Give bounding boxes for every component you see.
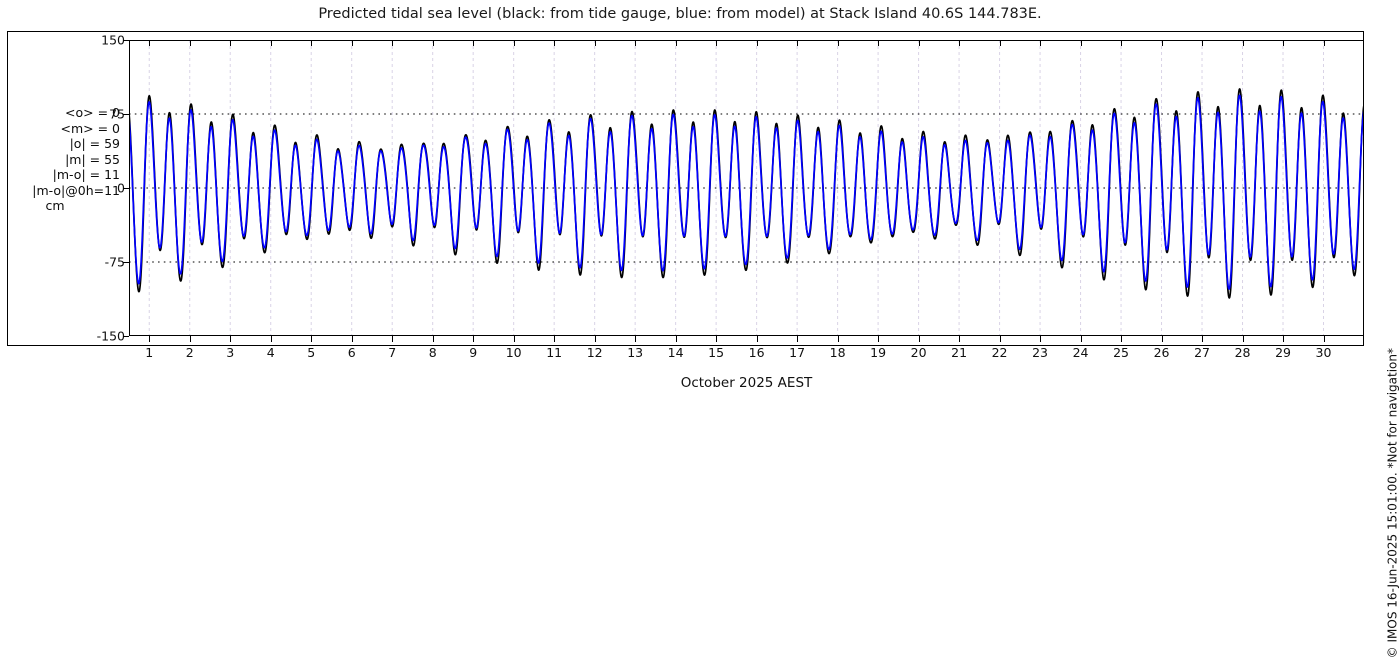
y-tick-mark-2 — [123, 188, 129, 189]
x-tick-mark-1 — [190, 336, 191, 342]
x-tick-mark-23 — [1081, 336, 1082, 342]
x-tick-mark-top-14 — [716, 40, 717, 46]
x-tick-label-17: 17 — [789, 345, 805, 360]
x-tick-mark-top-28 — [1283, 40, 1284, 46]
x-tick-mark-top-10 — [554, 40, 555, 46]
x-tick-mark-19 — [919, 336, 920, 342]
x-tick-mark-28 — [1283, 336, 1284, 342]
x-tick-mark-5 — [352, 336, 353, 342]
x-tick-label-4: 4 — [267, 345, 275, 360]
stat-absmean-difference: |m-o| = 11 — [0, 167, 122, 183]
x-tick-mark-10 — [554, 336, 555, 342]
x-tick-mark-6 — [392, 336, 393, 342]
x-tick-mark-3 — [271, 336, 272, 342]
x-tick-mark-12 — [635, 336, 636, 342]
x-tick-mark-top-25 — [1162, 40, 1163, 46]
x-tick-mark-26 — [1202, 336, 1203, 342]
x-tick-label-22: 22 — [992, 345, 1008, 360]
x-tick-mark-27 — [1243, 336, 1244, 342]
x-tick-mark-top-19 — [919, 40, 920, 46]
y-tick-mark-3 — [123, 262, 129, 263]
x-tick-label-3: 3 — [226, 345, 234, 360]
x-tick-mark-top-20 — [959, 40, 960, 46]
x-tick-mark-top-21 — [1000, 40, 1001, 46]
x-tick-mark-top-17 — [838, 40, 839, 46]
x-tick-label-9: 9 — [469, 345, 477, 360]
stat-unit: cm — [0, 198, 122, 214]
x-tick-mark-top-5 — [352, 40, 353, 46]
x-tick-mark-top-13 — [676, 40, 677, 46]
x-tick-mark-16 — [797, 336, 798, 342]
x-tick-mark-13 — [676, 336, 677, 342]
x-tick-label-30: 30 — [1316, 345, 1332, 360]
x-tick-mark-4 — [311, 336, 312, 342]
x-tick-label-20: 20 — [911, 345, 927, 360]
x-tick-label-2: 2 — [186, 345, 194, 360]
x-tick-mark-24 — [1121, 336, 1122, 342]
y-tick-label-0: 150 — [101, 33, 125, 48]
x-tick-label-13: 13 — [627, 345, 643, 360]
x-tick-mark-top-7 — [433, 40, 434, 46]
y-tick-mark-1 — [123, 114, 129, 115]
x-tick-mark-29 — [1324, 336, 1325, 342]
x-tick-label-25: 25 — [1113, 345, 1129, 360]
x-tick-mark-top-18 — [878, 40, 879, 46]
x-tick-label-11: 11 — [546, 345, 562, 360]
x-tick-label-18: 18 — [830, 345, 846, 360]
stat-mean-model: <m> = 0 — [0, 121, 122, 137]
x-tick-mark-11 — [595, 336, 596, 342]
x-tick-label-28: 28 — [1235, 345, 1251, 360]
y-tick-mark-0 — [123, 40, 129, 41]
x-tick-label-29: 29 — [1275, 345, 1291, 360]
x-tick-mark-top-2 — [230, 40, 231, 46]
x-tick-mark-top-8 — [473, 40, 474, 46]
x-tick-label-8: 8 — [429, 345, 437, 360]
x-tick-mark-top-15 — [757, 40, 758, 46]
x-tick-label-16: 16 — [749, 345, 765, 360]
x-tick-mark-top-11 — [595, 40, 596, 46]
x-tick-mark-25 — [1162, 336, 1163, 342]
x-tick-mark-14 — [716, 336, 717, 342]
x-tick-mark-9 — [514, 336, 515, 342]
x-tick-mark-15 — [757, 336, 758, 342]
x-tick-mark-18 — [878, 336, 879, 342]
tidal-sea-level-figure: Predicted tidal sea level (black: from t… — [0, 0, 1400, 400]
x-tick-label-7: 7 — [388, 345, 396, 360]
x-tick-label-5: 5 — [307, 345, 315, 360]
x-tick-label-14: 14 — [668, 345, 684, 360]
x-tick-label-12: 12 — [587, 345, 603, 360]
x-tick-label-27: 27 — [1194, 345, 1210, 360]
stat-mean-observed: <o> = 0 — [0, 105, 122, 121]
y-tick-label-3: -75 — [105, 255, 125, 270]
x-tick-mark-top-26 — [1202, 40, 1203, 46]
x-tick-mark-top-6 — [392, 40, 393, 46]
x-tick-mark-top-3 — [271, 40, 272, 46]
x-tick-mark-top-16 — [797, 40, 798, 46]
x-tick-mark-8 — [473, 336, 474, 342]
x-tick-mark-top-22 — [1040, 40, 1041, 46]
plot-area: 150750-75-150 12345678910111213141516171… — [129, 40, 1364, 336]
x-tick-mark-2 — [230, 336, 231, 342]
stat-absmean-observed: |o| = 59 — [0, 136, 122, 152]
statistics-block: <o> = 0 <m> = 0 |o| = 59 |m| = 55 |m-o| … — [0, 105, 122, 214]
stat-absmean-model: |m| = 55 — [0, 152, 122, 168]
x-tick-mark-top-1 — [190, 40, 191, 46]
x-tick-mark-0 — [149, 336, 150, 342]
x-tick-label-26: 26 — [1154, 345, 1170, 360]
x-tick-mark-21 — [1000, 336, 1001, 342]
x-tick-mark-22 — [1040, 336, 1041, 342]
x-tick-mark-top-0 — [149, 40, 150, 46]
x-tick-mark-7 — [433, 336, 434, 342]
x-tick-mark-20 — [959, 336, 960, 342]
x-tick-mark-top-4 — [311, 40, 312, 46]
page-title: Predicted tidal sea level (black: from t… — [0, 6, 1360, 22]
x-tick-mark-17 — [838, 336, 839, 342]
y-tick-mark-4 — [123, 336, 129, 337]
x-tick-mark-top-23 — [1081, 40, 1082, 46]
y-tick-label-4: -150 — [97, 329, 125, 344]
x-tick-label-24: 24 — [1073, 345, 1089, 360]
x-tick-label-10: 10 — [506, 345, 522, 360]
x-tick-mark-top-9 — [514, 40, 515, 46]
x-tick-mark-top-24 — [1121, 40, 1122, 46]
plot-frame — [129, 40, 1364, 336]
x-axis-title: October 2025 AEST — [129, 375, 1364, 391]
x-tick-label-6: 6 — [348, 345, 356, 360]
x-tick-label-1: 1 — [145, 345, 153, 360]
copyright-credit: © IMOS 16-Jun-2025 15:01:00. *Not for na… — [1385, 348, 1399, 658]
x-tick-label-21: 21 — [951, 345, 967, 360]
stat-absmean-difference-0h: |m-o|@0h=11 — [0, 183, 122, 199]
x-tick-label-15: 15 — [708, 345, 724, 360]
x-tick-label-23: 23 — [1032, 345, 1048, 360]
x-tick-label-19: 19 — [870, 345, 886, 360]
x-tick-mark-top-27 — [1243, 40, 1244, 46]
x-tick-mark-top-12 — [635, 40, 636, 46]
x-tick-mark-top-29 — [1324, 40, 1325, 46]
